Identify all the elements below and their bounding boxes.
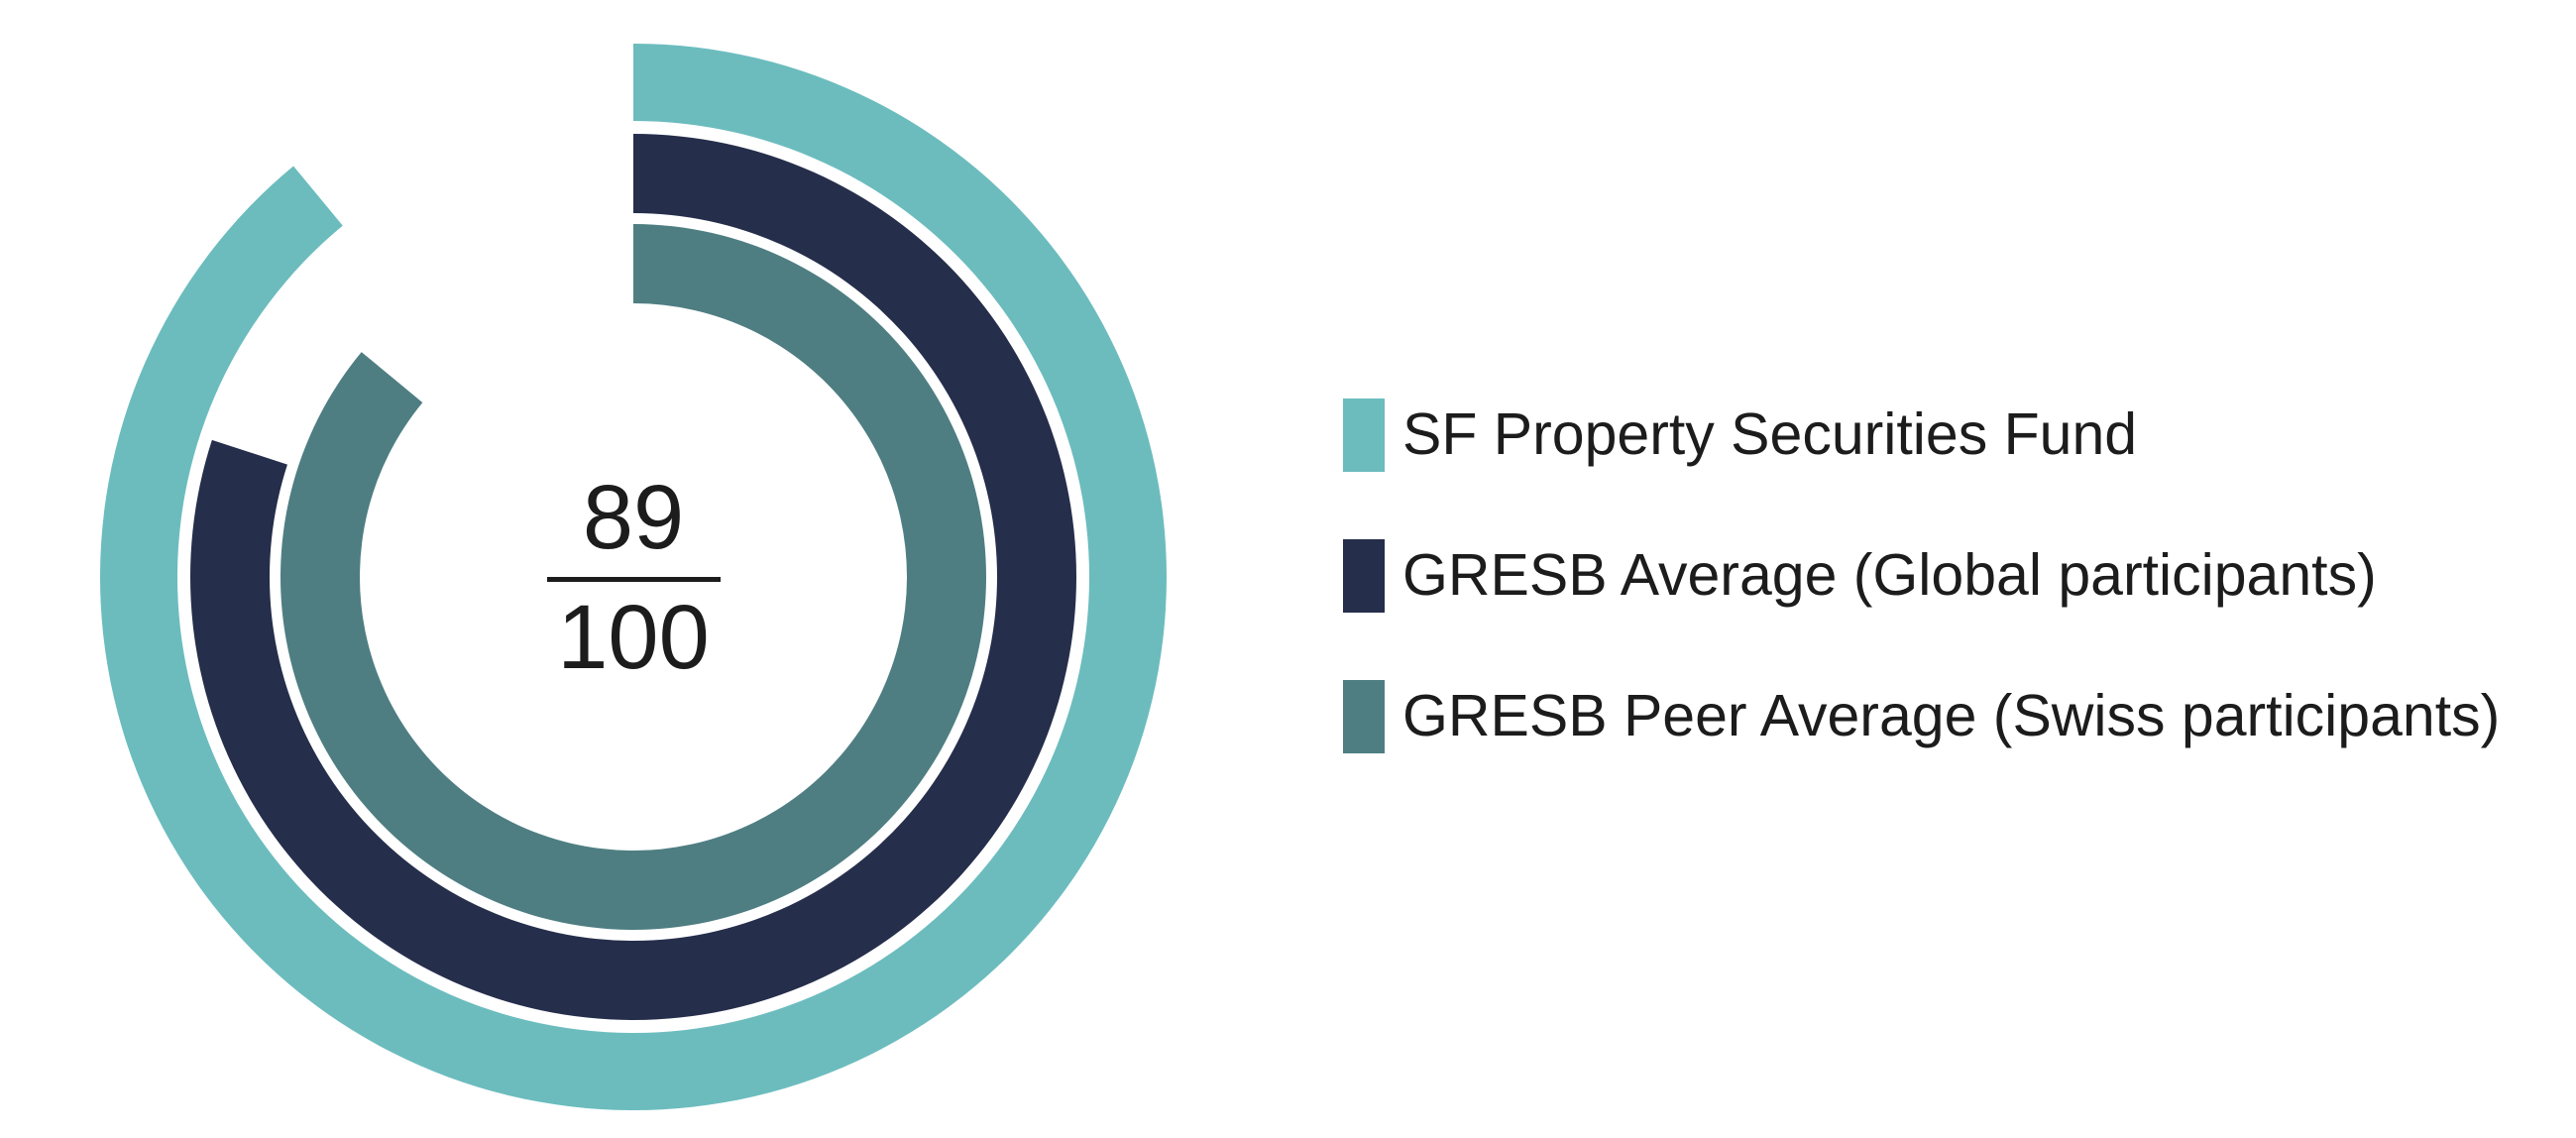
legend-label-gresb-peer-average-swiss: GRESB Peer Average (Swiss participants) xyxy=(1402,686,2500,747)
arc-gresb-peer-average-swiss xyxy=(280,224,986,930)
legend-item-sf-property-securities-fund: SF Property Securities Fund xyxy=(1343,393,2562,478)
gauge-rings-group xyxy=(100,44,1167,1110)
legend-item-gresb-average-global: GRESB Average (Global participants) xyxy=(1343,533,2562,619)
legend-swatch-gresb-average-global xyxy=(1343,539,1385,613)
legend-label-sf-property-securities-fund: SF Property Securities Fund xyxy=(1402,404,2137,466)
legend-item-gresb-peer-average-swiss: GRESB Peer Average (Swiss participants) xyxy=(1343,674,2562,759)
legend-swatch-gresb-peer-average-swiss xyxy=(1343,680,1385,753)
legend-label-gresb-average-global: GRESB Average (Global participants) xyxy=(1402,545,2377,607)
donut-gauge-area: 89 100 xyxy=(0,0,1279,1138)
legend-swatch-sf-property-securities-fund xyxy=(1343,398,1385,472)
radial-gauge-chart: 89 100 SF Property Securities Fund GRESB… xyxy=(0,0,2576,1138)
donut-gauge-svg xyxy=(0,0,1279,1138)
chart-legend: SF Property Securities Fund GRESB Averag… xyxy=(1343,393,2562,759)
